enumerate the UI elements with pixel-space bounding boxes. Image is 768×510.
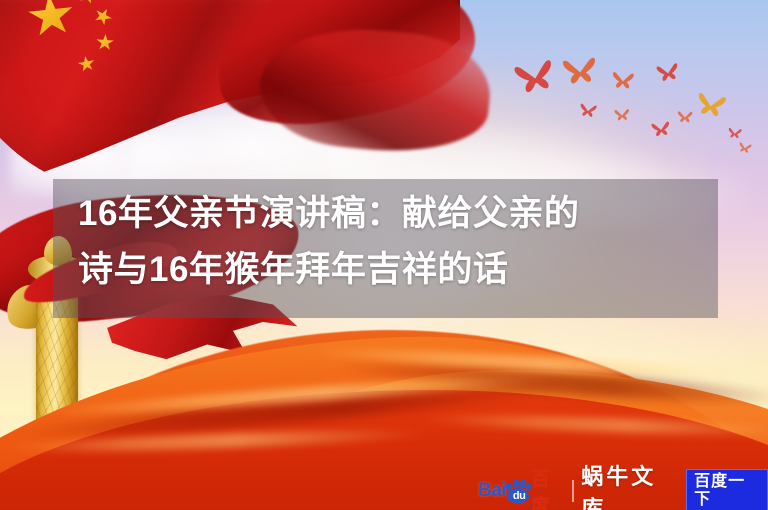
baidu-logo: Bai du 百度	[478, 464, 565, 510]
baidu-chinese-wordmark: 百度	[531, 464, 565, 510]
watermark-divider	[572, 480, 574, 502]
bird-icon	[613, 107, 632, 120]
site-brand-name: 蜗牛文库	[581, 459, 678, 510]
paw-toe	[513, 479, 520, 489]
bird-icon	[737, 139, 754, 152]
watermark-bar: Bai du 百度 蜗牛文库 百度一下	[478, 476, 768, 506]
baidu-wordmark: Bai	[478, 480, 506, 502]
page-title: 16年父亲节演讲稿：献给父亲的 诗与16年猴年拜年吉祥的话	[78, 186, 698, 298]
paw-label: du	[509, 489, 529, 503]
bird-icon	[577, 103, 599, 119]
bird-icon	[559, 56, 602, 86]
banner-image: 16年父亲节演讲稿：献给父亲的 诗与16年猴年拜年吉祥的话 Bai du 百度 …	[0, 0, 768, 510]
bird-icon	[676, 110, 694, 122]
bird-icon	[649, 121, 673, 138]
baidu-search-button[interactable]: 百度一下	[686, 469, 768, 510]
bird-icon	[726, 125, 743, 137]
bird-icon	[609, 71, 636, 90]
baidu-paw-icon: du	[505, 479, 530, 503]
